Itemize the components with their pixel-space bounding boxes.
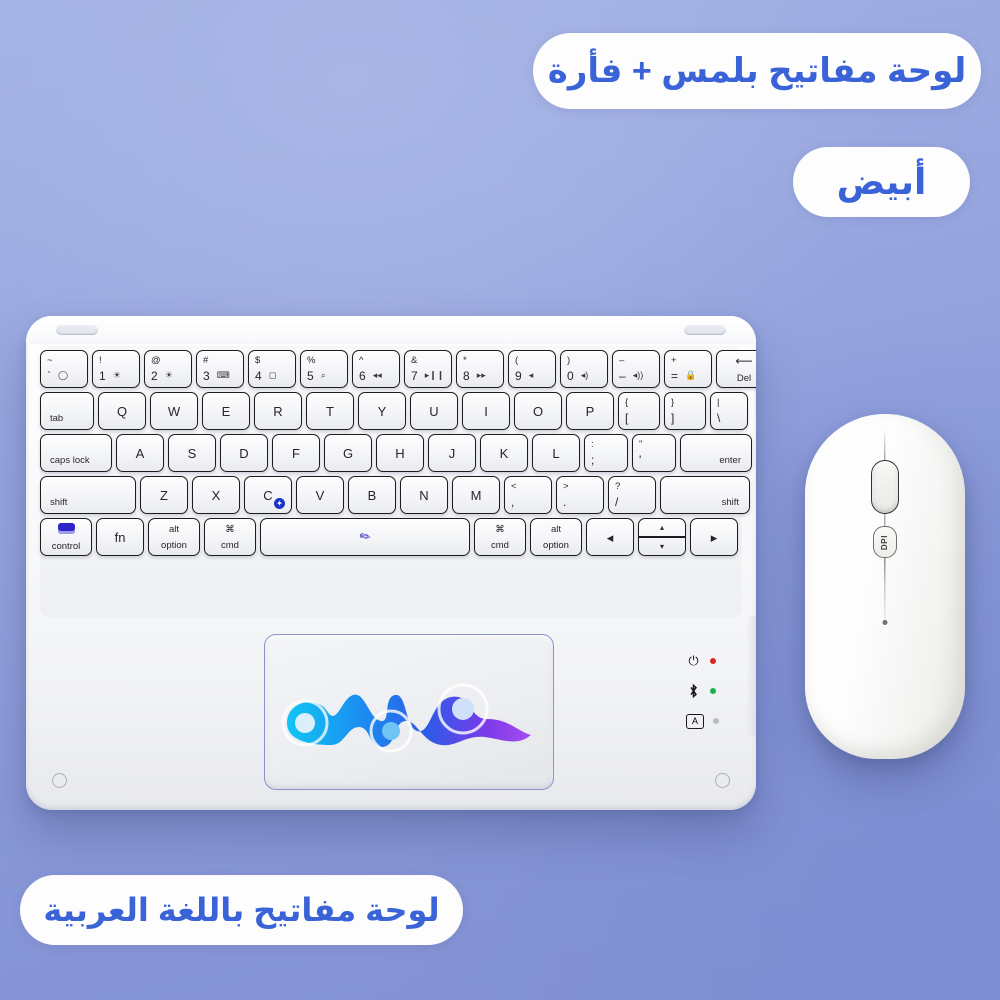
- key-legend-lower: /: [615, 496, 618, 508]
- key-legend: G: [343, 447, 353, 460]
- key-legend-upper: %: [307, 356, 315, 366]
- key-k[interactable]: K: [480, 434, 528, 472]
- space-badge-icon: ✎: [356, 527, 374, 546]
- key-row-qwerty: tabQWERTYUIOP{[}]|\: [40, 392, 748, 430]
- key-shift-left[interactable]: shift: [40, 476, 136, 514]
- key-legend-upper: +: [671, 356, 677, 366]
- key-legend: W: [168, 405, 180, 418]
- power-icon: ⏻: [686, 654, 701, 669]
- caps-lock-icon: A: [686, 714, 704, 729]
- key-legend: J: [449, 447, 456, 460]
- key-legend: fn: [115, 531, 126, 544]
- key-arrow-right[interactable]: ▸: [690, 518, 738, 556]
- key-3[interactable]: #3⌨: [196, 350, 244, 388]
- key-legend-lower: 6: [359, 370, 366, 382]
- key-5[interactable]: %5⌕: [300, 350, 348, 388]
- key-legend: H: [395, 447, 404, 460]
- key-d[interactable]: D: [220, 434, 268, 472]
- key-legend: Y: [378, 405, 387, 418]
- mouse-indicator-dot: [883, 620, 888, 625]
- key-a[interactable]: A: [116, 434, 164, 472]
- key-h[interactable]: H: [376, 434, 424, 472]
- key-bracket-right[interactable]: }]: [664, 392, 706, 430]
- key-c[interactable]: C✦: [244, 476, 292, 514]
- key-row-numbers: ~`◯!1☀@2☀#3⌨$4◻%5⌕^6◂◂&7▸❙❙*8▸▸(9◂)0◂)––…: [40, 350, 756, 388]
- key-legend: Z: [160, 489, 168, 502]
- key-e[interactable]: E: [202, 392, 250, 430]
- key-backslash[interactable]: |\: [710, 392, 748, 430]
- key-comma[interactable]: <,: [504, 476, 552, 514]
- key-fn-icon: ⌕: [321, 371, 326, 380]
- key-legend: A: [136, 447, 145, 460]
- key-0[interactable]: )0◂): [560, 350, 608, 388]
- key-legend-lower: .: [563, 496, 566, 508]
- key-legend-lower: 2: [151, 370, 158, 382]
- delete-arrow-icon: ⟵: [735, 354, 752, 368]
- key-fn-icon: ◻: [269, 371, 276, 380]
- key-legend: P: [586, 405, 595, 418]
- key-legend-lower: 5: [307, 370, 314, 382]
- product-image: لوحة مفاتيح بلمس + فأرة أبيض لوحة مفاتيح…: [0, 0, 1000, 1000]
- key-legend-upper: &: [411, 356, 417, 366]
- key-period[interactable]: >.: [556, 476, 604, 514]
- key-slash[interactable]: ?/: [608, 476, 656, 514]
- key-legend-lower: 8: [463, 370, 470, 382]
- key-legend-lower: ,: [511, 496, 514, 508]
- key-tilde[interactable]: ~`◯: [40, 350, 88, 388]
- key-fn-icon: ⌨: [217, 371, 230, 380]
- key-legend-upper: ~: [47, 356, 53, 366]
- key-legend: ◂: [607, 531, 614, 544]
- key-legend-lower: –: [619, 370, 626, 382]
- key-arrow-up[interactable]: ▴: [639, 519, 685, 536]
- key-legend: E: [222, 405, 231, 418]
- key-legend: S: [188, 447, 197, 460]
- key-legend: N: [419, 489, 428, 502]
- key-u[interactable]: U: [410, 392, 458, 430]
- key-legend-upper: (: [515, 356, 518, 366]
- key-row-home: caps lockASDFGHJKL:;"'enter: [40, 434, 752, 472]
- keyboard-right-edge: [746, 616, 756, 736]
- badge-language: لوحة مفاتيح باللغة العربية: [20, 875, 463, 945]
- key-9[interactable]: (9◂: [508, 350, 556, 388]
- key-y[interactable]: Y: [358, 392, 406, 430]
- key-control[interactable]: control: [40, 518, 92, 556]
- key-command-left[interactable]: ⌘cmd: [204, 518, 256, 556]
- key-legend: I: [484, 405, 488, 418]
- power-led: [710, 658, 716, 664]
- key-6[interactable]: ^6◂◂: [352, 350, 400, 388]
- key-quote[interactable]: "': [632, 434, 676, 472]
- key-option-right[interactable]: altoption: [530, 518, 582, 556]
- key-z[interactable]: Z: [140, 476, 188, 514]
- bluetooth-pair-icon: ✦: [274, 498, 285, 509]
- key-legend: C: [263, 489, 272, 502]
- key-legend-upper: :: [591, 440, 594, 450]
- mouse-seam: [884, 558, 885, 622]
- rubber-foot-right: [684, 324, 726, 335]
- key-legend-lower: cmd: [491, 540, 509, 551]
- key-legend-lower: 3: [203, 370, 210, 382]
- keyboard[interactable]: ~`◯!1☀@2☀#3⌨$4◻%5⌕^6◂◂&7▸❙❙*8▸▸(9◂)0◂)––…: [26, 316, 756, 810]
- key-row-zxcv: shiftZXC✦VBNM<,>.?/shift: [40, 476, 750, 514]
- key-fn-icon: ☀: [165, 371, 173, 380]
- key-s[interactable]: S: [168, 434, 216, 472]
- keyboard-top-edge: [26, 316, 756, 344]
- key-legend-upper: ⌘: [225, 524, 235, 535]
- key-legend-lower: [: [625, 412, 628, 424]
- key-legend-upper: {: [625, 398, 628, 408]
- key-shift-right[interactable]: shift: [660, 476, 750, 514]
- key-legend: O: [533, 405, 543, 418]
- key-legend: Q: [117, 405, 127, 418]
- bluetooth-led: [710, 688, 716, 694]
- key-m[interactable]: M: [452, 476, 500, 514]
- key-row-modifiers: controlfnaltoption⌘cmd✎⌘cmdaltoption◂▴▾▸: [40, 518, 738, 556]
- scroll-wheel[interactable]: [871, 460, 899, 514]
- key-caps-lock[interactable]: caps lock: [40, 434, 112, 472]
- caps-lock-led: [713, 718, 719, 724]
- key-j[interactable]: J: [428, 434, 476, 472]
- key-g[interactable]: G: [324, 434, 372, 472]
- foot-pad-bottom-right: [715, 773, 730, 788]
- key-legend: X: [212, 489, 221, 502]
- key-w[interactable]: W: [150, 392, 198, 430]
- key-legend: K: [500, 447, 509, 460]
- rubber-foot-left: [56, 324, 98, 335]
- key-equal[interactable]: +=🔒: [664, 350, 712, 388]
- dpi-label: DPI: [880, 534, 889, 549]
- key-legend-lower: ]: [671, 412, 674, 424]
- key-1[interactable]: !1☀: [92, 350, 140, 388]
- key-legend-lower: cmd: [221, 540, 239, 551]
- key-command-right[interactable]: ⌘cmd: [474, 518, 526, 556]
- key-legend-lower: 1: [99, 370, 106, 382]
- key-fn-icon: ☀: [113, 371, 121, 380]
- key-f[interactable]: F: [272, 434, 320, 472]
- key-legend-upper: ): [567, 356, 570, 366]
- key-legend: control: [52, 541, 81, 552]
- key-minus[interactable]: ––◂)): [612, 350, 660, 388]
- key-legend-lower: =: [671, 370, 678, 382]
- key-tab[interactable]: tab: [40, 392, 94, 430]
- key-delete[interactable]: ⟵Del: [716, 350, 756, 388]
- key-fn-icon: ◯: [58, 371, 68, 380]
- key-b[interactable]: B: [348, 476, 396, 514]
- key-legend: L: [552, 447, 559, 460]
- key-i[interactable]: I: [462, 392, 510, 430]
- control-badge-icon: [58, 523, 75, 534]
- key-fn[interactable]: fn: [96, 518, 144, 556]
- key-v[interactable]: V: [296, 476, 344, 514]
- key-legend: U: [429, 405, 438, 418]
- key-legend-upper: }: [671, 398, 674, 408]
- key-legend-upper: alt: [169, 524, 179, 535]
- trackpad[interactable]: [264, 634, 554, 790]
- key-8[interactable]: *8▸▸: [456, 350, 504, 388]
- key-o[interactable]: O: [514, 392, 562, 430]
- key-legend-lower: ': [639, 454, 641, 466]
- key-legend-upper: ^: [359, 356, 363, 366]
- key-fn-icon: ◂): [581, 371, 589, 380]
- key-x[interactable]: X: [192, 476, 240, 514]
- key-legend-upper: #: [203, 356, 208, 366]
- wireless-mouse[interactable]: DPI: [805, 414, 965, 759]
- key-fn-icon: ▸▸: [477, 371, 486, 380]
- key-legend-upper: –: [619, 356, 624, 366]
- key-deck: ~`◯!1☀@2☀#3⌨$4◻%5⌕^6◂◂&7▸❙❙*8▸▸(9◂)0◂)––…: [40, 346, 742, 618]
- key-legend: B: [368, 489, 377, 502]
- badge-product-type: لوحة مفاتيح بلمس + فأرة: [533, 33, 981, 109]
- key-legend-upper: !: [99, 356, 102, 366]
- key-legend-upper: >: [563, 482, 569, 492]
- key-legend-upper: $: [255, 356, 260, 366]
- trackpad-wave-logo: [265, 635, 553, 789]
- key-arrow-down[interactable]: ▾: [639, 538, 685, 555]
- key-legend: T: [326, 405, 334, 418]
- key-legend: ▸: [711, 531, 718, 544]
- key-2[interactable]: @2☀: [144, 350, 192, 388]
- key-legend-upper: alt: [551, 524, 561, 535]
- key-7[interactable]: &7▸❙❙: [404, 350, 452, 388]
- key-legend-lower: 7: [411, 370, 418, 382]
- key-n[interactable]: N: [400, 476, 448, 514]
- key-fn-icon: ◂◂: [373, 371, 382, 380]
- key-fn-icon: ◂)): [633, 371, 644, 380]
- key-bracket-left[interactable]: {[: [618, 392, 660, 430]
- key-arrow-up-down[interactable]: ▴▾: [638, 518, 686, 556]
- key-legend-upper: |: [717, 398, 719, 408]
- key-legend: Del: [737, 373, 751, 384]
- badge-color: أبيض: [793, 147, 970, 217]
- key-legend: V: [316, 489, 325, 502]
- key-legend-upper: *: [463, 356, 467, 366]
- key-legend-upper: ?: [615, 482, 620, 492]
- key-legend-lower: ;: [591, 454, 594, 466]
- key-t[interactable]: T: [306, 392, 354, 430]
- foot-pad-bottom-left: [52, 773, 67, 788]
- bluetooth-icon: [686, 684, 701, 699]
- key-4[interactable]: $4◻: [248, 350, 296, 388]
- key-enter[interactable]: enter: [680, 434, 752, 472]
- key-fn-icon: ◂: [529, 371, 534, 380]
- key-legend-upper: ⌘: [495, 524, 505, 535]
- key-legend-lower: option: [543, 540, 569, 551]
- key-legend-lower: 0: [567, 370, 574, 382]
- key-legend: D: [239, 447, 248, 460]
- key-semicolon[interactable]: :;: [584, 434, 628, 472]
- key-l[interactable]: L: [532, 434, 580, 472]
- key-option-left[interactable]: altoption: [148, 518, 200, 556]
- key-p[interactable]: P: [566, 392, 614, 430]
- key-legend-upper: @: [151, 356, 161, 366]
- key-fn-icon: 🔒: [685, 371, 696, 380]
- key-space[interactable]: ✎: [260, 518, 470, 556]
- key-legend: M: [471, 489, 482, 502]
- key-legend-lower: \: [717, 412, 720, 424]
- key-legend-lower: 9: [515, 370, 522, 382]
- key-legend-upper: ": [639, 440, 642, 450]
- key-legend: R: [273, 405, 282, 418]
- key-legend-lower: 4: [255, 370, 262, 382]
- key-legend-lower: option: [161, 540, 187, 551]
- key-legend-lower: `: [47, 370, 51, 382]
- key-fn-icon: ▸❙❙: [425, 371, 445, 380]
- key-r[interactable]: R: [254, 392, 302, 430]
- key-q[interactable]: Q: [98, 392, 146, 430]
- dpi-button[interactable]: DPI: [873, 526, 897, 558]
- key-legend: F: [292, 447, 300, 460]
- key-arrow-left[interactable]: ◂: [586, 518, 634, 556]
- key-legend-upper: <: [511, 482, 517, 492]
